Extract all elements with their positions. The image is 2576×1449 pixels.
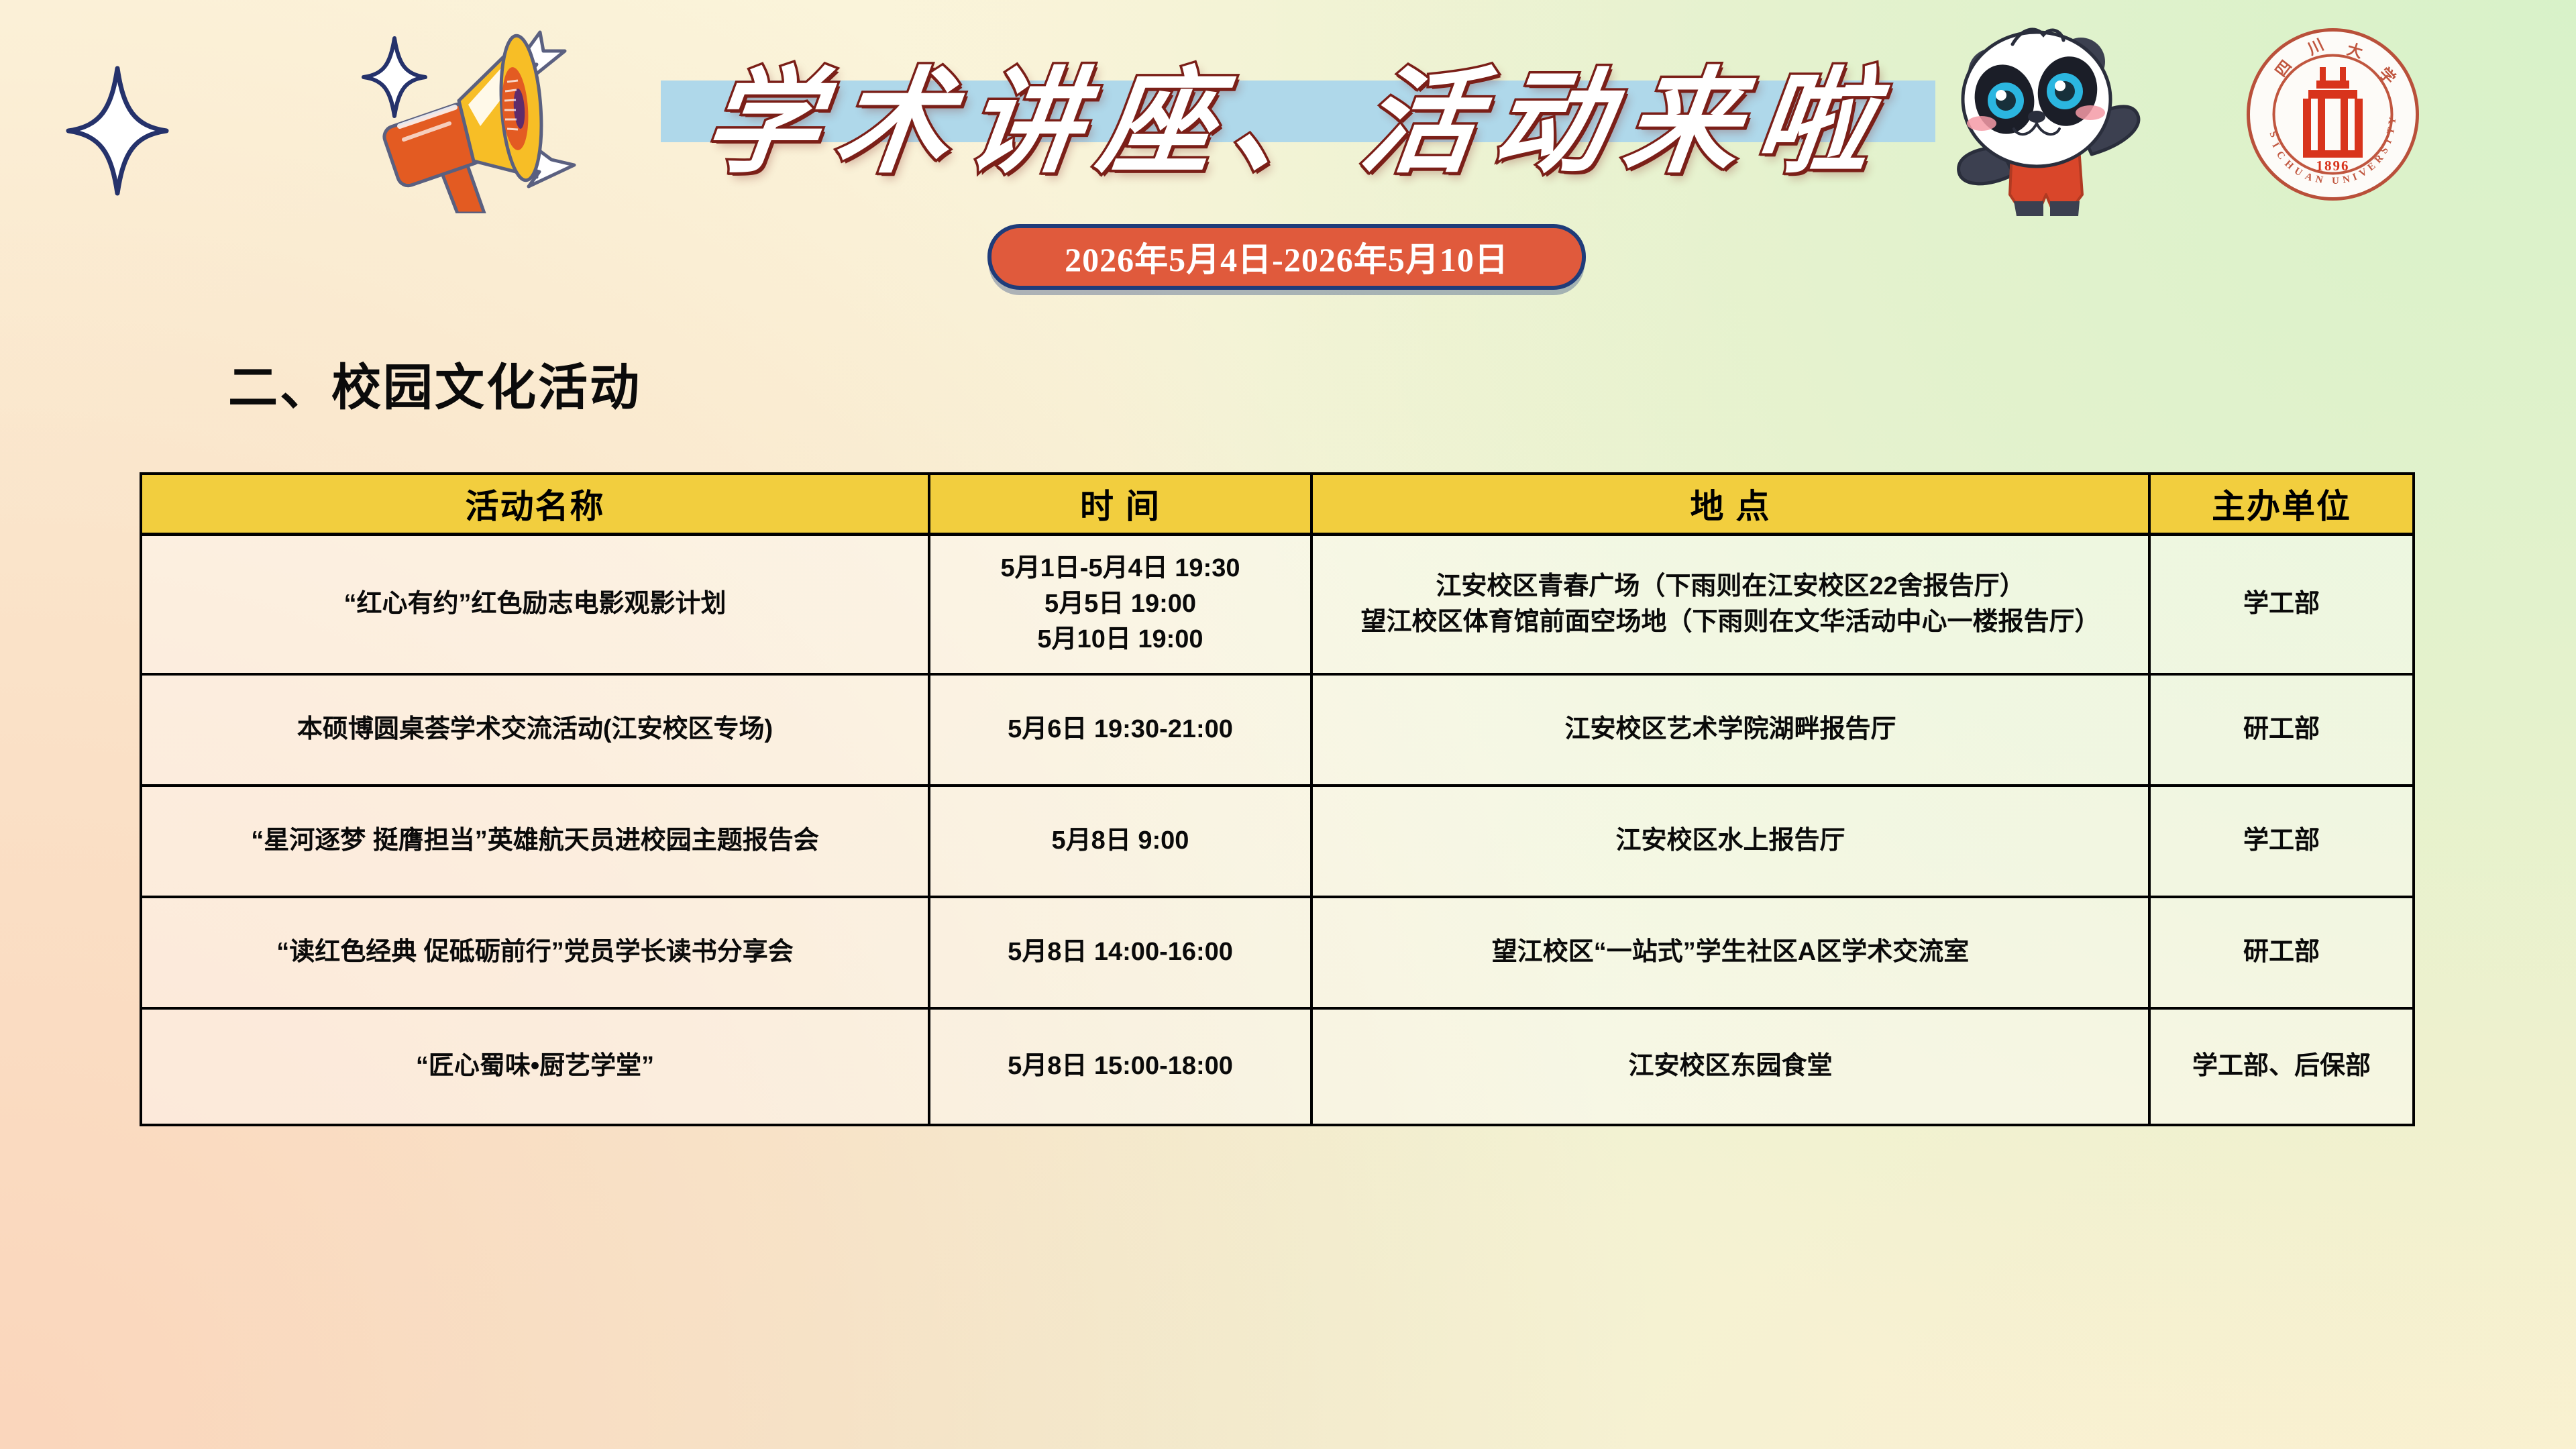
poster-title: 学术讲座、活动来啦 [661,80,1935,161]
cell-activity-name: “星河逐梦 挺膺担当”英雄航天员进校园主题报告会 [141,786,929,897]
date-range-text: 2026年5月4日-2026年5月10日 [1065,233,1509,281]
table-row: 本硕博圆桌荟学术交流活动(江安校区专场)5月6日 19:30-21:00江安校区… [141,674,2414,786]
cell-organizer: 学工部 [2149,786,2414,897]
cell-time: 5月1日-5月4日 19:305月5日 19:005月10日 19:00 [929,535,1311,674]
cell-place: 江安校区水上报告厅 [1311,786,2149,897]
section-heading: 二、校园文化活动 [228,347,641,419]
column-header-time: 时 间 [929,474,1311,535]
cell-activity-name: “读红色经典 促砥砺前行”党员学长读书分享会 [141,897,929,1008]
cell-place: 江安校区艺术学院湖畔报告厅 [1311,674,2149,786]
cell-organizer: 研工部 [2149,897,2414,1008]
poster-canvas: 四 川 大 学 S I C H U A N U N I V E R S [0,0,2576,1449]
cell-time: 5月8日 9:00 [929,786,1311,897]
svg-text:U: U [2332,176,2340,186]
title-text: 学术讲座、活动来啦 [651,30,1945,195]
schedule-table: 活动名称 时 间 地 点 主办单位 “红心有约”红色励志电影观影计划5月1日-5… [140,472,2415,1126]
cell-place: 望江校区“一站式”学生社区A区学术交流室 [1311,897,2149,1008]
table-row: “读红色经典 促砥砺前行”党员学长读书分享会5月8日 14:00-16:00望江… [141,897,2414,1008]
svg-text:1896: 1896 [2316,158,2350,174]
megaphone-icon [315,12,617,213]
column-header-organizer: 主办单位 [2149,474,2414,535]
sparkle-icon [67,67,168,195]
cell-organizer: 学工部 [2149,535,2414,674]
cell-time: 5月8日 14:00-16:00 [929,897,1311,1008]
schedule-table-body: “红心有约”红色励志电影观影计划5月1日-5月4日 19:305月5日 19:0… [141,535,2414,1125]
table-row: “星河逐梦 挺膺担当”英雄航天员进校园主题报告会5月8日 9:00江安校区水上报… [141,786,2414,897]
cell-place: 江安校区青春广场（下雨则在江安校区22舍报告厅）望江校区体育馆前面空场地（下雨则… [1311,535,2149,674]
svg-text:Y: Y [2387,116,2398,125]
panda-mascot-icon [1912,5,2167,220]
cell-activity-name: “红心有约”红色励志电影观影计划 [141,535,929,674]
cell-organizer: 研工部 [2149,674,2414,786]
cell-time: 5月8日 15:00-18:00 [929,1008,1311,1125]
date-range-badge: 2026年5月4日-2026年5月10日 [987,224,1586,290]
cell-activity-name: 本硕博圆桌荟学术交流活动(江安校区专场) [141,674,929,786]
cell-organizer: 学工部、后保部 [2149,1008,2414,1125]
sichuan-university-logo: 四 川 大 学 S I C H U A N U N I V E R S [2244,25,2422,203]
cell-place: 江安校区东园食堂 [1311,1008,2149,1125]
cell-activity-name: “匠心蜀味•厨艺学堂” [141,1008,929,1125]
cell-time: 5月6日 19:30-21:00 [929,674,1311,786]
table-header-row: 活动名称 时 间 地 点 主办单位 [141,474,2414,535]
table-row: “红心有约”红色励志电影观影计划5月1日-5月4日 19:305月5日 19:0… [141,535,2414,674]
column-header-activity-name: 活动名称 [141,474,929,535]
column-header-place: 地 点 [1311,474,2149,535]
table-row: “匠心蜀味•厨艺学堂”5月8日 15:00-18:00江安校区东园食堂学工部、后… [141,1008,2414,1125]
schedule-table-container: 活动名称 时 间 地 点 主办单位 “红心有约”红色励志电影观影计划5月1日-5… [140,472,2412,1126]
